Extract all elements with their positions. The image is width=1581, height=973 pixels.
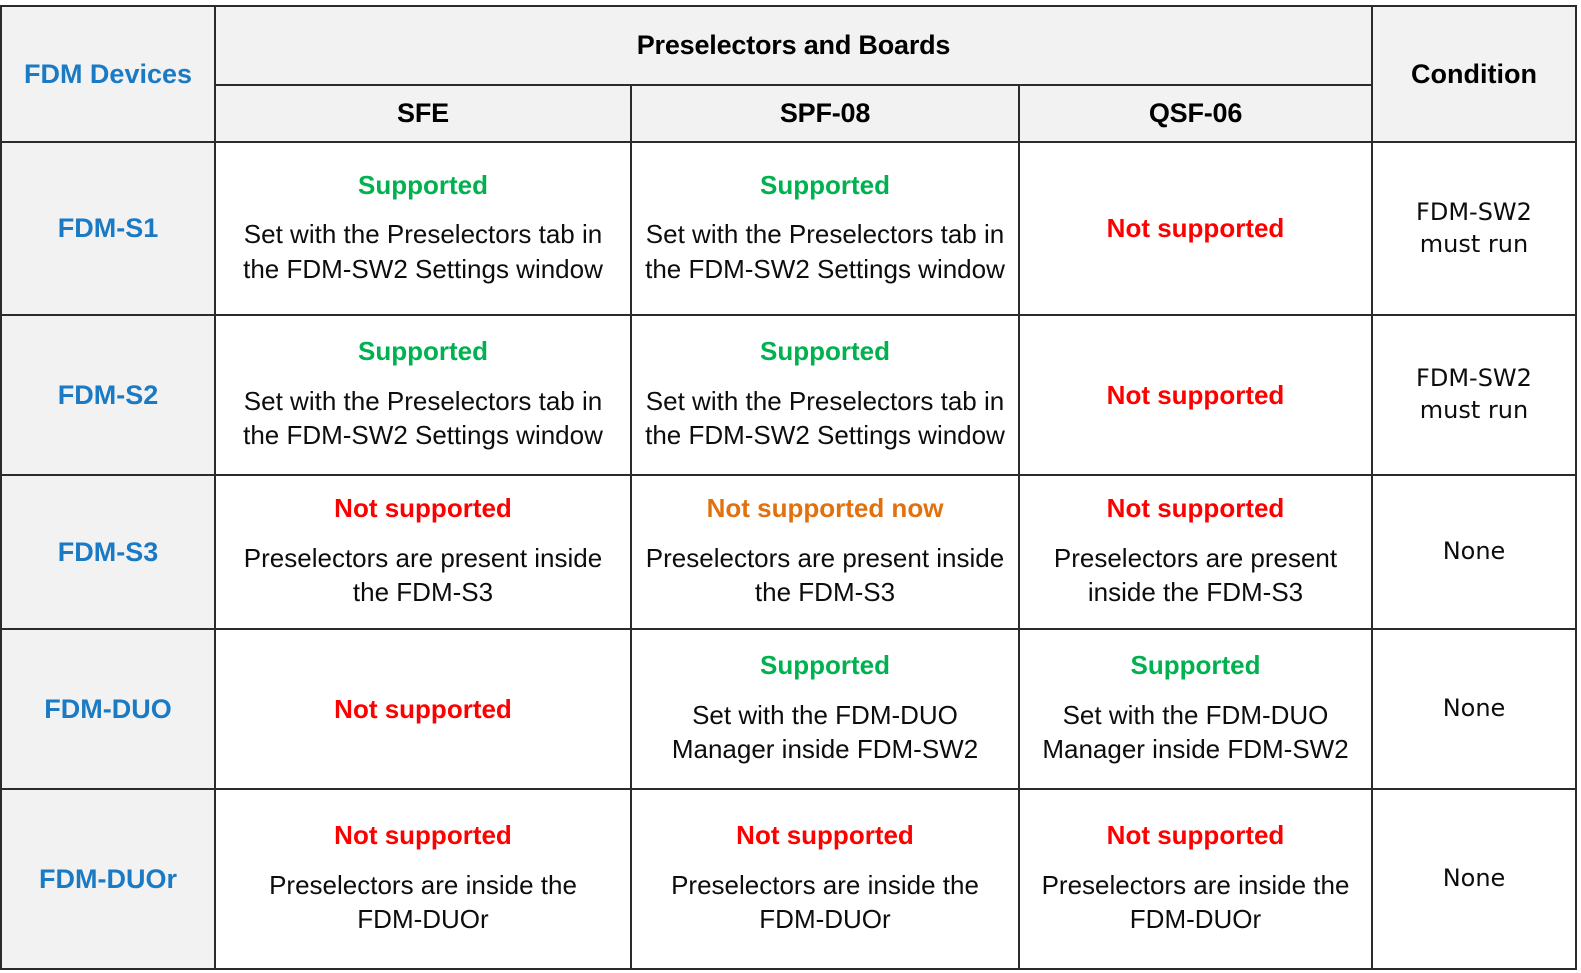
status-badge: Not supported xyxy=(1107,381,1285,410)
header-row-group: FDM Devices Preselectors and Boards Cond… xyxy=(1,6,1576,85)
condition-cell: None xyxy=(1372,475,1576,629)
status-badge: Supported xyxy=(760,651,890,680)
support-cell-content: SupportedSet with the Preselectors tab i… xyxy=(640,337,1010,453)
header-preselectors-and-boards: Preselectors and Boards xyxy=(215,6,1372,85)
device-name-cell: FDM-S1 xyxy=(1,142,215,315)
support-detail-text: Preselectors are present inside the FDM-… xyxy=(640,541,1010,610)
device-name-cell: FDM-S3 xyxy=(1,475,215,629)
support-cell: Not supported nowPreselectors are presen… xyxy=(631,475,1019,629)
support-cell-content: Not supportedPreselectors are inside the… xyxy=(1028,821,1363,937)
support-cell: Not supported xyxy=(1019,315,1372,475)
support-cell-content: Not supportedPreselectors are present in… xyxy=(1028,494,1363,610)
support-cell: Not supported xyxy=(215,629,631,789)
status-badge: Supported xyxy=(358,337,488,366)
support-cell-content: Not supported xyxy=(1028,214,1363,243)
support-cell-content: Not supported xyxy=(1028,381,1363,410)
support-detail-text: Preselectors are inside the FDM-DUOr xyxy=(640,868,1010,937)
support-detail-text: Set with the Preselectors tab in the FDM… xyxy=(640,384,1010,453)
status-badge: Not supported xyxy=(1107,494,1285,523)
support-cell-content: Not supported xyxy=(224,695,622,724)
support-detail-text: Preselectors are present inside the FDM-… xyxy=(238,541,608,610)
support-detail-text: Preselectors are inside the FDM-DUOr xyxy=(238,868,608,937)
support-cell-content: Not supported nowPreselectors are presen… xyxy=(640,494,1010,610)
condition-cell: None xyxy=(1372,789,1576,969)
support-cell-content: SupportedSet with the Preselectors tab i… xyxy=(640,171,1010,287)
support-detail-text: Set with the Preselectors tab in the FDM… xyxy=(238,217,608,286)
table-row: FDM-S1SupportedSet with the Preselectors… xyxy=(1,142,1576,315)
support-detail-text: Preselectors are inside the FDM-DUOr xyxy=(1028,868,1363,937)
compatibility-table-container: FDM Devices Preselectors and Boards Cond… xyxy=(0,5,1575,968)
support-cell-content: SupportedSet with the Preselectors tab i… xyxy=(224,171,622,287)
support-cell-content: Not supportedPreselectors are inside the… xyxy=(224,821,622,937)
header-row-boards: SFE SPF-08 QSF-06 xyxy=(1,85,1576,142)
support-cell: Not supportedPreselectors are inside the… xyxy=(1019,789,1372,969)
support-cell-content: SupportedSet with the Preselectors tab i… xyxy=(224,337,622,453)
support-cell-content: SupportedSet with the FDM-DUO Manager in… xyxy=(1028,651,1363,767)
support-detail-text: Set with the Preselectors tab in the FDM… xyxy=(640,217,1010,286)
status-badge: Supported xyxy=(1131,651,1261,680)
support-detail-text: Set with the FDM-DUO Manager inside FDM-… xyxy=(640,698,1010,767)
condition-cell: FDM-SW2 must run xyxy=(1372,315,1576,475)
support-cell: Not supportedPreselectors are inside the… xyxy=(631,789,1019,969)
status-badge: Not supported xyxy=(334,695,512,724)
header-board-sfe: SFE xyxy=(215,85,631,142)
support-cell-content: SupportedSet with the FDM-DUO Manager in… xyxy=(640,651,1010,767)
support-cell: Not supportedPreselectors are inside the… xyxy=(215,789,631,969)
support-cell: SupportedSet with the Preselectors tab i… xyxy=(631,142,1019,315)
header-board-spf-08: SPF-08 xyxy=(631,85,1019,142)
fdm-device-compatibility-table: FDM Devices Preselectors and Boards Cond… xyxy=(0,5,1577,970)
support-cell: Not supported xyxy=(1019,142,1372,315)
support-detail-text: Set with the Preselectors tab in the FDM… xyxy=(238,384,608,453)
header-fdm-devices: FDM Devices xyxy=(1,6,215,142)
status-badge: Not supported xyxy=(1107,821,1285,850)
support-cell: SupportedSet with the Preselectors tab i… xyxy=(215,142,631,315)
support-cell-content: Not supportedPreselectors are present in… xyxy=(224,494,622,610)
support-cell: SupportedSet with the Preselectors tab i… xyxy=(215,315,631,475)
status-badge: Supported xyxy=(760,171,890,200)
support-cell-content: Not supportedPreselectors are inside the… xyxy=(640,821,1010,937)
table-header: FDM Devices Preselectors and Boards Cond… xyxy=(1,6,1576,142)
support-detail-text: Set with the FDM-DUO Manager inside FDM-… xyxy=(1028,698,1363,767)
status-badge: Not supported now xyxy=(707,494,944,523)
device-name-cell: FDM-DUOr xyxy=(1,789,215,969)
table-body: FDM-S1SupportedSet with the Preselectors… xyxy=(1,142,1576,969)
status-badge: Not supported xyxy=(736,821,914,850)
header-board-qsf-06: QSF-06 xyxy=(1019,85,1372,142)
status-badge: Supported xyxy=(760,337,890,366)
table-row: FDM-DUOrNot supportedPreselectors are in… xyxy=(1,789,1576,969)
table-row: FDM-S2SupportedSet with the Preselectors… xyxy=(1,315,1576,475)
support-cell: SupportedSet with the FDM-DUO Manager in… xyxy=(1019,629,1372,789)
condition-cell: FDM-SW2 must run xyxy=(1372,142,1576,315)
support-detail-text: Preselectors are present inside the FDM-… xyxy=(1028,541,1363,610)
status-badge: Not supported xyxy=(334,821,512,850)
header-condition: Condition xyxy=(1372,6,1576,142)
status-badge: Supported xyxy=(358,171,488,200)
device-name-cell: FDM-S2 xyxy=(1,315,215,475)
support-cell: SupportedSet with the FDM-DUO Manager in… xyxy=(631,629,1019,789)
table-row: FDM-DUONot supportedSupportedSet with th… xyxy=(1,629,1576,789)
status-badge: Not supported xyxy=(1107,214,1285,243)
support-cell: Not supportedPreselectors are present in… xyxy=(215,475,631,629)
status-badge: Not supported xyxy=(334,494,512,523)
support-cell: SupportedSet with the Preselectors tab i… xyxy=(631,315,1019,475)
support-cell: Not supportedPreselectors are present in… xyxy=(1019,475,1372,629)
device-name-cell: FDM-DUO xyxy=(1,629,215,789)
table-row: FDM-S3Not supportedPreselectors are pres… xyxy=(1,475,1576,629)
condition-cell: None xyxy=(1372,629,1576,789)
